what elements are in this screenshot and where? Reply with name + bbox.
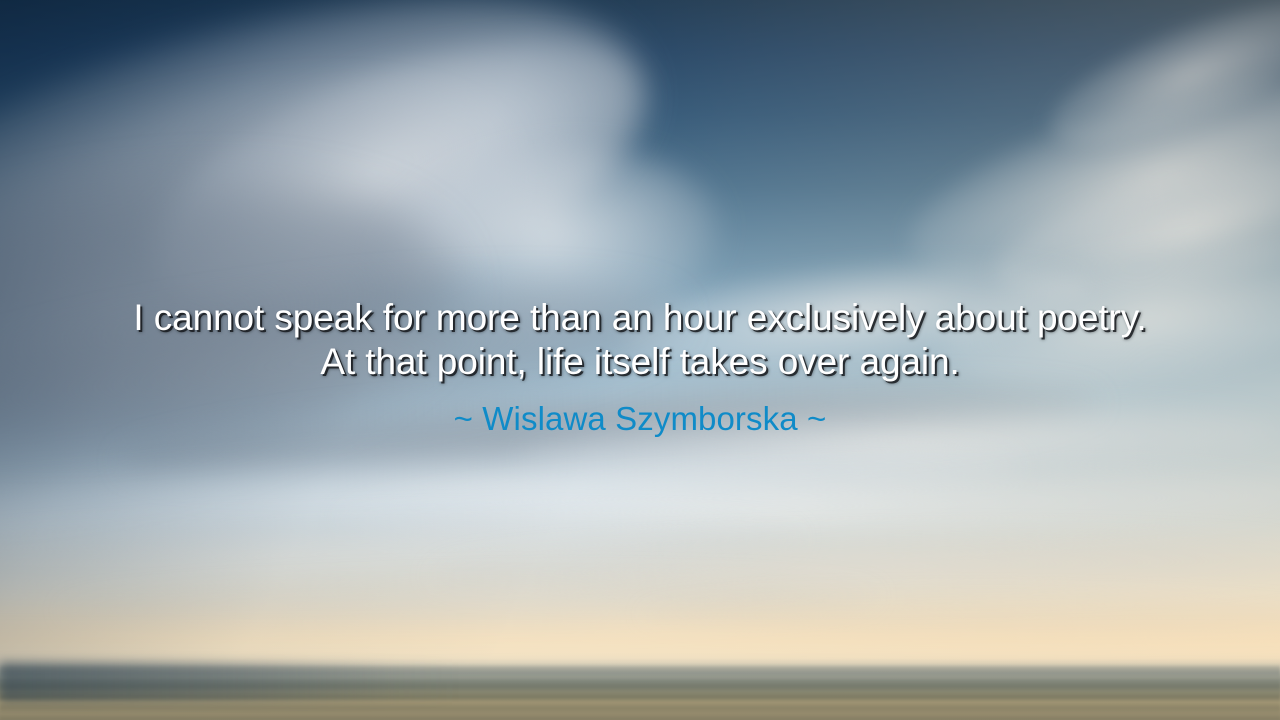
text-overlay: I cannot speak for more than an hour exc… xyxy=(0,0,1280,720)
quote-image: I cannot speak for more than an hour exc… xyxy=(0,0,1280,720)
quote-attribution: ~ Wislawa Szymborska ~ xyxy=(454,400,827,438)
quote-text: I cannot speak for more than an hour exc… xyxy=(40,296,1240,384)
